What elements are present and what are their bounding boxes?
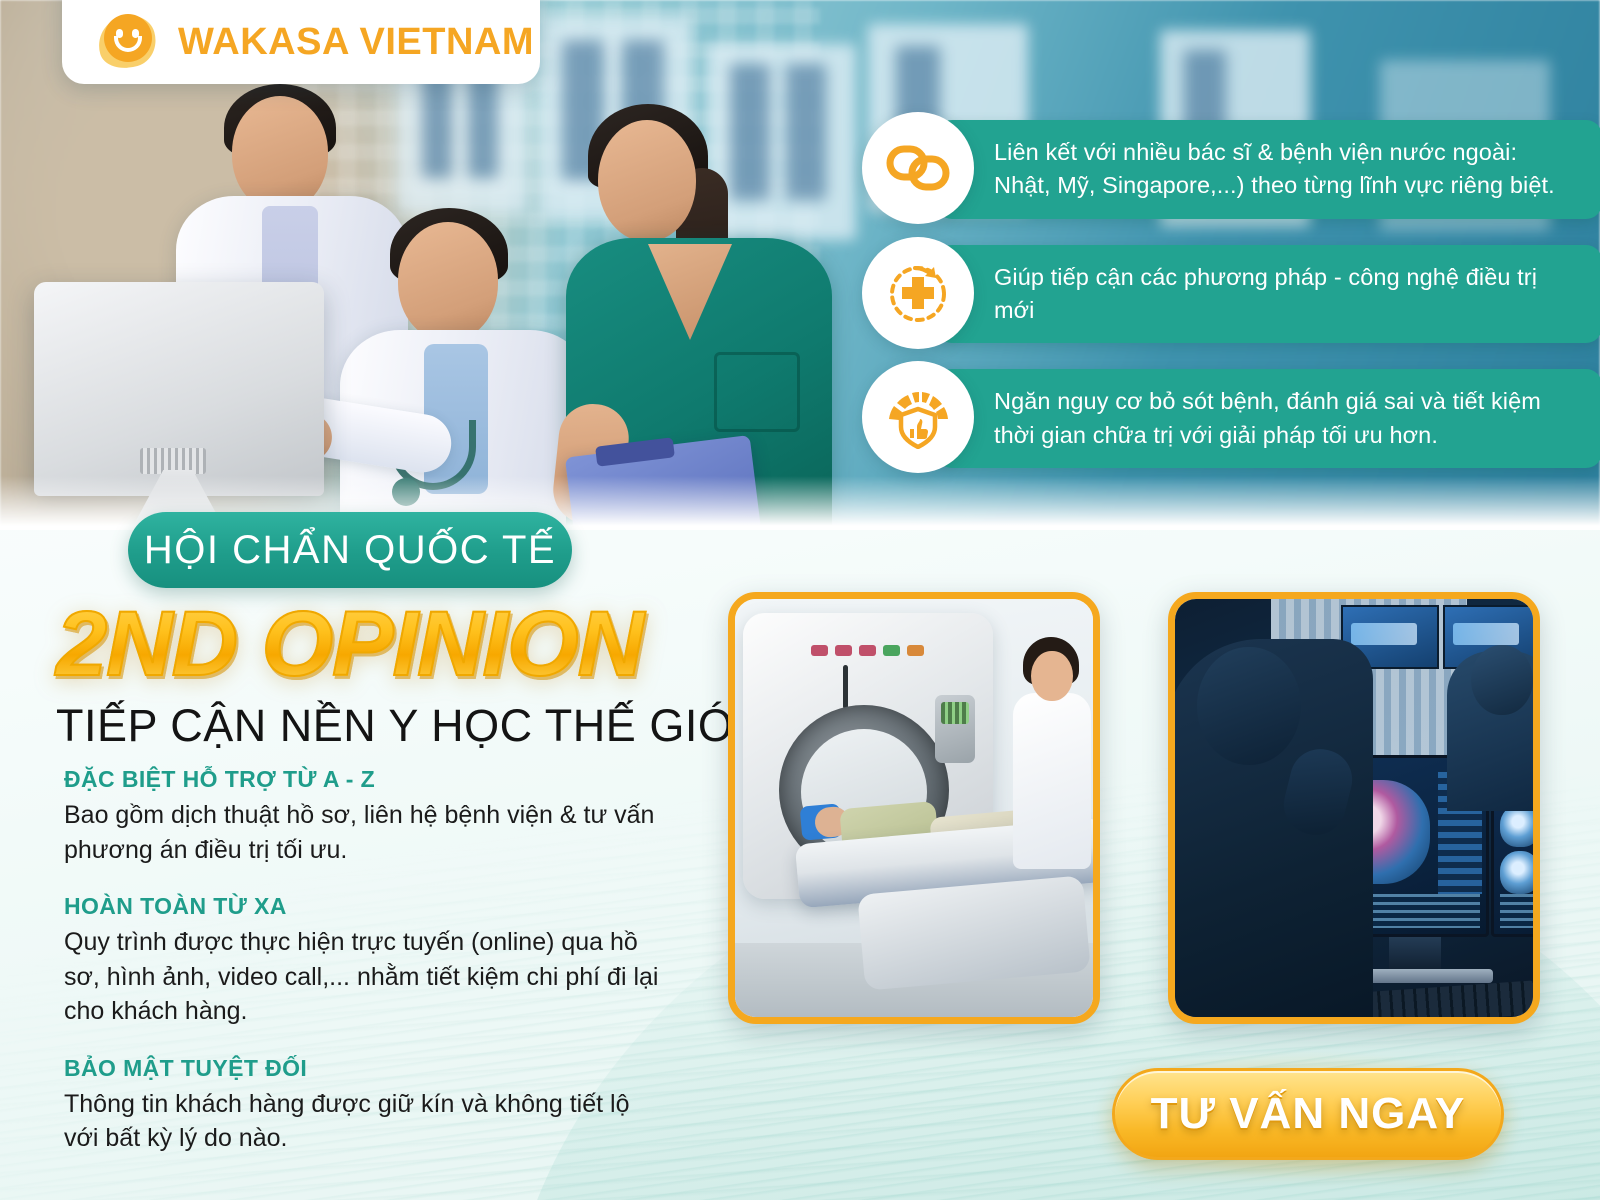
feature-title: BẢO MẬT TUYỆT ĐỐI [64, 1055, 664, 1082]
foreground-doctor-head [1197, 647, 1301, 765]
ct-scanner-photo [728, 592, 1100, 1024]
doctor-two-head [398, 222, 498, 342]
callout-bubble: Giúp tiếp cận các phương pháp - công ngh… [936, 245, 1600, 344]
feature-body: Quy trình được thực hiện trực tuyến (onl… [64, 925, 664, 1029]
page-subtitle: TIẾP CẬN NỀN Y HỌC THẾ GIỚI [56, 700, 716, 752]
feature-body: Bao gồm dịch thuật hồ sơ, liên hệ bệnh v… [64, 798, 664, 867]
headline-group: 2ND OPINION TIẾP CẬN NỀN Y HỌC THẾ GIỚI [56, 598, 716, 752]
ct-technician [1007, 637, 1093, 869]
smiley-blob-icon [96, 12, 162, 72]
doctor-one-head [232, 96, 328, 212]
feature-title: ĐẶC BIỆT HỖ TRỢ TỪ A - Z [64, 766, 664, 793]
brand-name: WAKASA VIETNAM [178, 21, 534, 64]
second-doctor-head [1471, 645, 1533, 715]
medical-cross-refresh-icon [862, 237, 974, 349]
poster-canvas: WAKASA VIETNAM Liên kết với nhiều bác sĩ… [0, 0, 1600, 1200]
nurse-pocket [714, 352, 800, 432]
callout-bubble: Liên kết với nhiều bác sĩ & bệnh viện nư… [936, 120, 1600, 219]
pill-label: HỘI CHẨN QUỐC TẾ [144, 528, 556, 573]
shield-thumbs-up-icon [862, 361, 974, 473]
ct-control-panel [935, 695, 975, 763]
feature-body: Thông tin khách hàng được giữ kín và khô… [64, 1087, 664, 1156]
hero-callout-list: Liên kết với nhiều bác sĩ & bệnh viện nư… [862, 120, 1600, 494]
monitor-data-rows [1500, 894, 1540, 928]
section-pill-badge: HỘI CHẨN QUỐC TẾ [128, 512, 572, 588]
callout-text: Ngăn nguy cơ bỏ sót bệnh, đánh giá sai v… [994, 385, 1576, 452]
callout-item: Ngăn nguy cơ bỏ sót bệnh, đánh giá sai v… [862, 369, 1600, 468]
monitor-stand [1389, 937, 1441, 971]
callout-bubble: Ngăn nguy cơ bỏ sót bệnh, đánh giá sai v… [936, 369, 1600, 468]
ct-indicator-lights [811, 645, 924, 656]
callout-item: Giúp tiếp cận các phương pháp - công ngh… [862, 245, 1600, 344]
feature-item: ĐẶC BIỆT HỖ TRỢ TỪ A - Z Bao gồm dịch th… [64, 766, 664, 867]
ct-table-base [857, 875, 1091, 990]
radiology-review-photo [1168, 592, 1540, 1024]
ct-laser-slot [843, 665, 848, 709]
feature-list: ĐẶC BIỆT HỖ TRỢ TỪ A - Z Bao gồm dịch th… [64, 766, 664, 1182]
callout-text: Liên kết với nhiều bác sĩ & bệnh viện nư… [994, 136, 1576, 203]
feature-item: BẢO MẬT TUYỆT ĐỐI Thông tin khách hàng đ… [64, 1055, 664, 1156]
xray-lightbox [706, 44, 856, 240]
page-title: 2ND OPINION [56, 598, 716, 690]
feature-title: HOÀN TOÀN TỪ XA [64, 893, 664, 920]
link-rings-icon [862, 112, 974, 224]
consult-now-button[interactable]: TƯ VẤN NGAY [1112, 1068, 1504, 1160]
callout-text: Giúp tiếp cận các phương pháp - công ngh… [994, 261, 1576, 328]
brand-logo[interactable]: WAKASA VIETNAM [62, 0, 540, 84]
cta-label: TƯ VẤN NGAY [1151, 1089, 1466, 1139]
nurse-head [598, 120, 696, 242]
callout-item: Liên kết với nhiều bác sĩ & bệnh viện nư… [862, 120, 1600, 219]
feature-item: HOÀN TOÀN TỪ XA Quy trình được thực hiện… [64, 893, 664, 1029]
